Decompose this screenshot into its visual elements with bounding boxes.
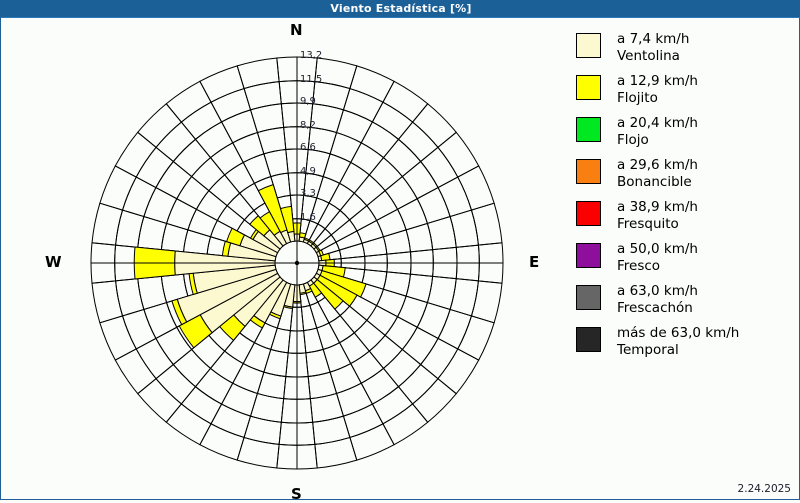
grid-cell	[188, 209, 217, 237]
legend-item[interactable]: a 63,0 km/hFrescachón	[576, 283, 798, 317]
legend-speed-text: más de 63,0 km/h	[617, 325, 739, 342]
grid-cell	[196, 368, 233, 404]
radial-tick-label: 11,5	[300, 74, 322, 85]
grid-cell	[192, 158, 225, 191]
legend-name-text: Bonancible	[617, 174, 698, 191]
grid-cell	[225, 333, 255, 364]
legend-color-swatch	[576, 327, 601, 352]
grid-cell	[377, 209, 406, 237]
grid-cell	[237, 58, 279, 89]
grid-cell	[354, 320, 385, 351]
grid-cell	[398, 296, 428, 327]
legend-name-text: Frescachón	[617, 300, 698, 317]
grid-cell	[237, 437, 279, 468]
grid-cell	[318, 203, 340, 229]
legend-item[interactable]: a 12,9 km/hFlojito	[576, 73, 798, 107]
grid-cell	[209, 175, 240, 206]
legend-speed-text: a 63,0 km/h	[617, 283, 698, 300]
grid-cell	[211, 143, 244, 175]
grid-cell	[217, 206, 244, 231]
grid-cell	[323, 343, 351, 372]
legend-color-swatch	[576, 33, 601, 58]
direction-label-north: N	[290, 21, 303, 39]
grid-cell	[383, 404, 428, 445]
grid-cell	[138, 379, 182, 423]
legend-label: más de 63,0 km/hTemporal	[617, 325, 739, 359]
grid-cell	[92, 203, 123, 245]
grid-cell	[471, 203, 502, 245]
grid-cell	[313, 416, 350, 444]
windrose-svg	[2, 19, 562, 499]
grid-cell	[369, 335, 402, 368]
legend-speed-text: a 29,6 km/h	[617, 157, 698, 174]
grid-cell	[350, 424, 394, 460]
legend-color-swatch	[576, 285, 601, 310]
grid-cell	[264, 150, 288, 177]
grid-cell	[115, 132, 156, 177]
grid-cell	[166, 81, 211, 122]
legend-item[interactable]: a 38,9 km/hFresquito	[576, 199, 798, 233]
grid-cell	[417, 303, 450, 339]
grid-cell	[357, 220, 383, 243]
radial-tick-label: 8,2	[300, 120, 316, 131]
grid-cell	[211, 351, 244, 383]
grid-cell	[173, 139, 210, 176]
wind-speed-legend: a 7,4 km/hVentolinaa 12,9 km/hFlojitoa 2…	[576, 31, 798, 367]
grid-cell	[166, 404, 211, 445]
grid-cell	[383, 349, 420, 386]
grid-cell	[399, 365, 438, 404]
legend-color-swatch	[576, 201, 601, 226]
grid-cell	[330, 133, 361, 163]
grid-cell	[402, 327, 438, 364]
grid-cell	[100, 316, 136, 360]
grid-cell	[450, 210, 478, 247]
grid-cell	[383, 230, 410, 254]
grid-cell	[233, 364, 264, 394]
grid-cell	[361, 122, 398, 158]
grid-cell	[351, 143, 384, 175]
grid-cell	[413, 104, 457, 148]
grid-cell	[100, 166, 136, 210]
cardinal-axes	[91, 57, 503, 469]
grid-cell	[458, 316, 494, 360]
legend-speed-text: a 50,0 km/h	[617, 241, 698, 258]
windrose-chart-panel: N S E W 1,63,34,96,68,29,911,513,2	[2, 19, 562, 499]
grid-cell	[350, 66, 394, 102]
legend-speed-text: a 38,9 km/h	[617, 199, 698, 216]
radial-tick-label: 1,6	[300, 212, 316, 223]
grid-cell	[340, 193, 367, 220]
legend-name-text: Flojito	[617, 90, 698, 107]
legend-item[interactable]: a 50,0 km/hFresco	[576, 241, 798, 275]
legend-name-text: Flojo	[617, 132, 698, 149]
grid-cell	[167, 199, 197, 230]
legend-name-text: Ventolina	[617, 48, 689, 65]
grid-cell	[115, 349, 156, 394]
windrose-petals	[134, 185, 366, 348]
legend-label: a 29,6 km/hBonancible	[617, 157, 698, 191]
legend-label: a 63,0 km/hFrescachón	[617, 283, 698, 317]
grid-cell	[362, 237, 387, 257]
grid-cell	[385, 317, 417, 350]
grid-cell	[138, 104, 182, 148]
direction-label-east: E	[529, 253, 539, 271]
rose-center-dot	[295, 261, 299, 265]
legend-speed-text: a 20,4 km/h	[617, 115, 698, 132]
legend-label: a 38,9 km/hFresquito	[617, 199, 698, 233]
date-stamp: 2.24.2025	[738, 483, 791, 495]
grid-cell	[367, 191, 398, 221]
legend-label: a 7,4 km/hVentolina	[617, 31, 689, 65]
legend-item[interactable]: a 20,4 km/hFlojo	[576, 115, 798, 149]
grid-cell	[367, 306, 398, 336]
legend-speed-text: a 7,4 km/h	[617, 31, 689, 48]
grid-cell	[383, 81, 428, 122]
grid-cell	[329, 183, 354, 210]
grid-cell	[361, 368, 398, 404]
legend-color-swatch	[576, 75, 601, 100]
grid-cell	[337, 110, 373, 143]
grid-cell	[385, 177, 417, 210]
legend-label: a 50,0 km/hFresco	[617, 241, 698, 275]
window-title: Viento Estadística [%]	[1, 2, 800, 16]
grid-cell	[306, 349, 330, 376]
grid-cell	[116, 279, 144, 316]
grid-cell	[184, 230, 211, 254]
grid-cell	[177, 177, 209, 210]
grid-cell	[243, 154, 271, 183]
radial-tick-label: 13,2	[300, 50, 322, 61]
grid-cell	[200, 66, 244, 102]
grid-cell	[471, 281, 502, 323]
grid-cell	[377, 289, 406, 317]
grid-cell	[200, 424, 244, 460]
legend-label: a 12,9 km/hFlojito	[617, 73, 698, 107]
grid-cell	[222, 383, 258, 416]
legend-label: a 20,4 km/hFlojo	[617, 115, 698, 149]
grid-cell	[399, 122, 438, 161]
legend-item[interactable]: a 29,6 km/hBonancible	[576, 157, 798, 191]
grid-cell	[438, 349, 479, 394]
grid-cell	[340, 333, 370, 364]
grid-cell	[304, 328, 324, 353]
legend-speed-text: a 12,9 km/h	[617, 73, 698, 90]
window-title-bar: Viento Estadística [%]	[1, 1, 800, 18]
grid-cell	[244, 82, 281, 110]
radial-tick-label: 9,9	[300, 96, 316, 107]
grid-cell	[227, 193, 254, 220]
grid-cell	[354, 175, 385, 206]
radial-tick-label: 6,6	[300, 142, 316, 153]
grid-cell	[340, 162, 370, 193]
grid-cell	[383, 139, 420, 176]
legend-item[interactable]: a 7,4 km/hVentolina	[576, 31, 798, 65]
grid-cell	[92, 281, 123, 323]
grid-cell	[413, 379, 457, 423]
grid-cell	[331, 220, 357, 242]
legend-color-swatch	[576, 159, 601, 184]
legend-color-swatch	[576, 117, 601, 142]
grid-cell	[225, 162, 255, 193]
legend-item[interactable]: más de 63,0 km/hTemporal	[576, 325, 798, 359]
grid-cell	[156, 365, 195, 404]
grid-cell	[196, 191, 227, 221]
grid-cell	[351, 351, 384, 383]
grid-cell	[173, 349, 210, 386]
legend-name-text: Fresco	[617, 258, 698, 275]
grid-cell	[369, 158, 402, 191]
petal-segment[interactable]	[300, 233, 306, 238]
radial-tick-label: 3,3	[300, 188, 316, 199]
grid-cell	[156, 122, 195, 161]
grid-cell	[340, 306, 367, 333]
direction-label-south: S	[291, 485, 302, 503]
legend-name-text: Fresquito	[617, 216, 698, 233]
grid-cell	[156, 162, 192, 199]
radial-tick-label: 4,9	[300, 166, 316, 177]
grid-cell	[243, 343, 271, 372]
legend-color-swatch	[576, 243, 601, 268]
grid-cell	[458, 166, 494, 210]
direction-label-west: W	[45, 253, 62, 271]
grid-cell	[383, 272, 410, 296]
grid-cell	[323, 154, 351, 183]
grid-cell	[438, 132, 479, 177]
grid-cell	[317, 323, 340, 349]
grid-cell	[144, 188, 177, 224]
grid-cell	[402, 162, 438, 199]
wind-statistics-window: Viento Estadística [%] N S E W 1,63,34,9…	[0, 0, 800, 500]
grid-cell	[315, 437, 357, 468]
grid-cell	[196, 122, 233, 158]
grid-cell	[264, 349, 288, 376]
legend-name-text: Temporal	[617, 342, 739, 359]
